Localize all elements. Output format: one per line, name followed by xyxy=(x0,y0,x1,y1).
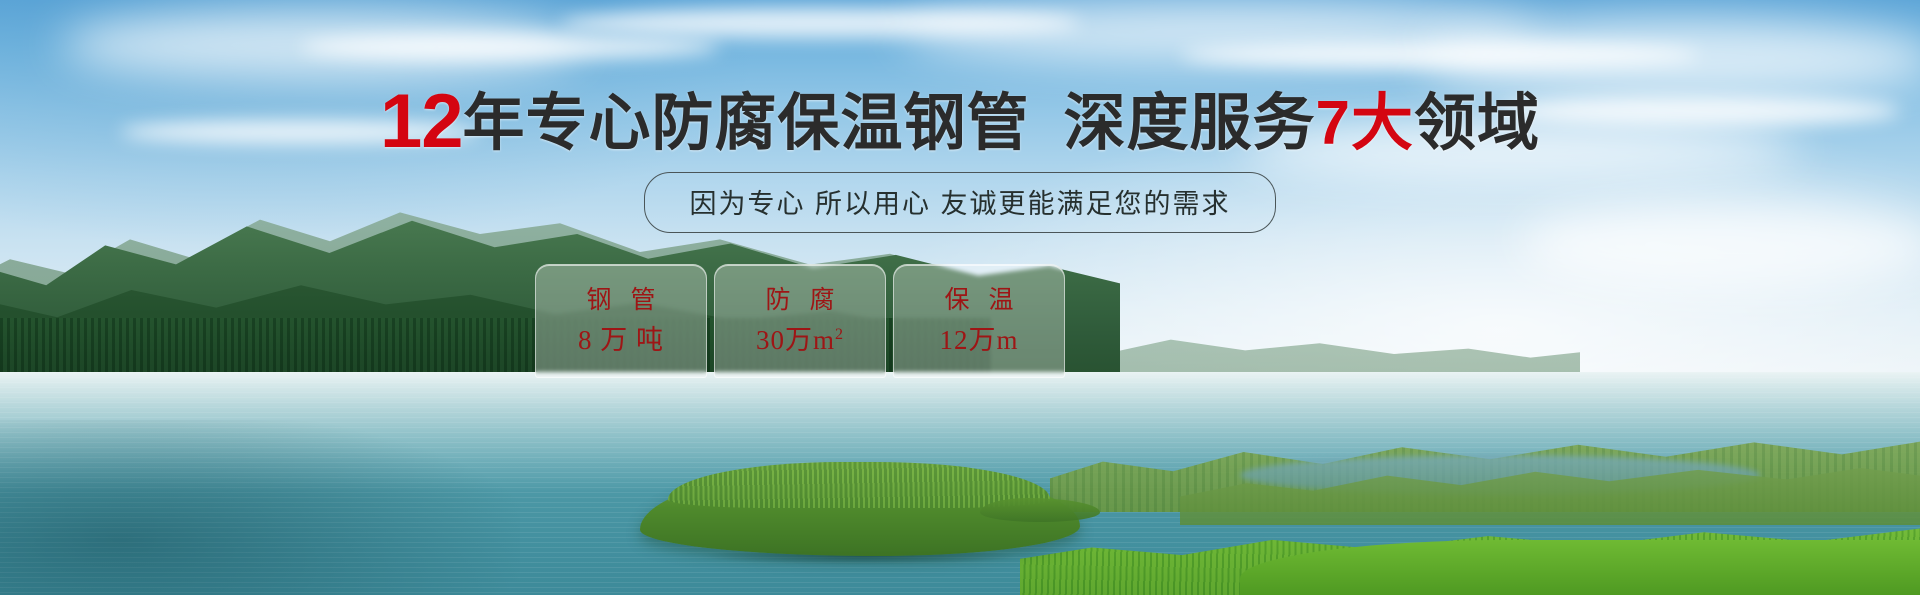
stat-card-value: 12万m xyxy=(939,327,1018,354)
water-shadow-left xyxy=(0,420,520,595)
stat-card: 防 腐 30万m2 xyxy=(714,264,886,378)
cloud-icon xyxy=(300,34,720,60)
stat-card: 保 温 12万m xyxy=(893,264,1065,378)
stat-card-label: 保 温 xyxy=(939,288,1020,313)
stat-card-value-sup: 2 xyxy=(835,326,844,343)
headline-years-number: 12 xyxy=(380,79,463,164)
stat-card-group: 钢 管 8 万 吨 防 腐 30万m2 保 温 12万m xyxy=(535,264,1065,378)
stat-card: 钢 管 8 万 吨 xyxy=(535,264,707,378)
stat-card-label: 钢 管 xyxy=(581,288,662,313)
hero-banner: 12年专心防腐保温钢管深度服务7大领域 因为专心 所以用心 友诚更能满足您的需求… xyxy=(0,0,1920,595)
stat-card-value-text: 12万m xyxy=(939,325,1018,355)
stat-card-value: 30万m2 xyxy=(756,327,844,354)
headline-text-part1: 年专心防腐保温钢管 xyxy=(463,89,1030,158)
stat-card-label: 防 腐 xyxy=(760,288,841,313)
stat-card-value-text: 30万m xyxy=(756,325,835,355)
grass-foreground xyxy=(1240,540,1920,595)
banner-subtitle-wrap: 因为专心 所以用心 友诚更能满足您的需求 xyxy=(0,172,1920,233)
stat-card-value: 8 万 吨 xyxy=(578,327,664,354)
banner-subtitle-pill: 因为专心 所以用心 友诚更能满足您的需求 xyxy=(644,172,1275,233)
headline-text-part2: 深度服务 xyxy=(1064,89,1316,158)
stat-card-value-text: 8 万 吨 xyxy=(578,325,664,355)
banner-headline: 12年专心防腐保温钢管深度服务7大领域 xyxy=(0,84,1920,160)
headline-highlight-seven: 7大 xyxy=(1316,89,1414,158)
headline-text-part3: 领域 xyxy=(1414,89,1540,158)
